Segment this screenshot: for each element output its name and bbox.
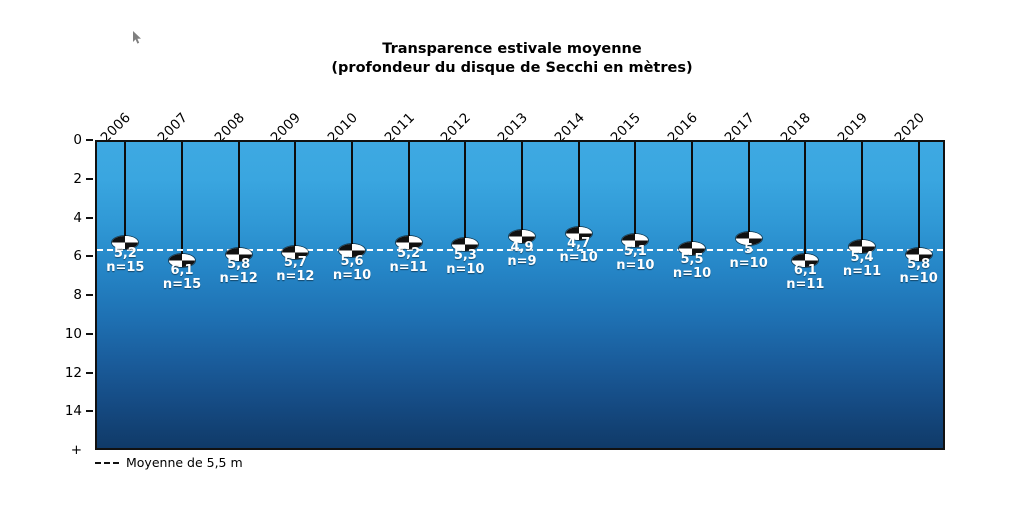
secchi-disk-marker xyxy=(396,236,422,249)
y-tick-mark xyxy=(86,178,93,180)
data-point-sample-size: n=11 xyxy=(843,265,881,279)
chart-title-block: Transparence estivale moyenne (profondeu… xyxy=(0,40,1024,78)
data-point-label: 5n=10 xyxy=(730,243,768,271)
secchi-disk-marker xyxy=(112,236,138,249)
stem-line xyxy=(351,142,353,251)
data-point-sample-size: n=10 xyxy=(333,269,371,283)
stem-line xyxy=(408,142,410,243)
y-tick-label: 8 xyxy=(22,287,82,303)
data-point-label: 5,6n=10 xyxy=(333,255,371,283)
y-tick-label: + xyxy=(22,442,82,458)
legend: Moyenne de 5,5 m xyxy=(95,455,243,470)
stem-line xyxy=(748,142,750,239)
data-point-label: 4,7n=10 xyxy=(560,237,598,265)
data-point-label: 5,8n=12 xyxy=(220,258,258,286)
stem-line xyxy=(578,142,580,233)
chart-subtitle: (profondeur du disque de Secchi en mètre… xyxy=(0,59,1024,78)
y-tick-mark xyxy=(86,372,93,374)
y-tick-label: 10 xyxy=(22,326,82,342)
secchi-disk-marker xyxy=(169,254,195,267)
data-point-label: 5,7n=12 xyxy=(276,256,314,284)
secchi-disk-marker xyxy=(906,248,932,261)
data-point-sample-size: n=12 xyxy=(220,272,258,286)
data-point-sample-size: n=15 xyxy=(106,261,144,275)
data-point-label: 5,8n=10 xyxy=(900,258,938,286)
stem-line xyxy=(521,142,523,237)
data-point-label: 4,9n=9 xyxy=(507,241,536,269)
stem-line xyxy=(634,142,636,241)
data-point-label: 5,3n=10 xyxy=(446,249,484,277)
secchi-disk-marker xyxy=(622,234,648,247)
secchi-transparency-chart: Transparence estivale moyenne (profondeu… xyxy=(0,0,1024,530)
data-point-label: 5,2n=15 xyxy=(106,247,144,275)
y-tick-mark xyxy=(86,217,93,219)
data-point-sample-size: n=11 xyxy=(786,278,824,292)
chart-title: Transparence estivale moyenne xyxy=(0,40,1024,59)
secchi-disk-marker xyxy=(509,230,535,243)
legend-label: Moyenne de 5,5 m xyxy=(126,455,243,470)
stem-line xyxy=(918,142,920,254)
data-point-sample-size: n=10 xyxy=(900,272,938,286)
y-tick-mark xyxy=(86,410,93,412)
data-point-label: 5,2n=11 xyxy=(390,247,428,275)
data-point-label: 6,1n=11 xyxy=(786,264,824,292)
y-tick-label: 12 xyxy=(22,365,82,381)
secchi-disk-marker xyxy=(226,248,252,261)
data-point-sample-size: n=12 xyxy=(276,270,314,284)
stem-line xyxy=(464,142,466,245)
stem-line xyxy=(124,142,126,243)
data-point-sample-size: n=10 xyxy=(616,259,654,273)
cursor-arrow-icon xyxy=(133,31,142,44)
secchi-disk-marker xyxy=(849,240,875,253)
y-tick-mark xyxy=(86,294,93,296)
data-point-label: 6,1n=15 xyxy=(163,264,201,292)
secchi-disk-marker xyxy=(736,232,762,245)
secchi-disk-marker xyxy=(792,254,818,267)
y-tick-mark xyxy=(86,255,93,257)
mean-reference-line xyxy=(97,249,943,251)
stem-line xyxy=(294,142,296,252)
secchi-disk-marker xyxy=(566,227,592,240)
stem-line xyxy=(861,142,863,247)
secchi-disk-marker xyxy=(282,246,308,259)
data-point-sample-size: n=15 xyxy=(163,278,201,292)
plot-area: 5,2n=156,1n=155,8n=125,7n=125,6n=105,2n=… xyxy=(95,140,945,450)
data-point-sample-size: n=10 xyxy=(560,251,598,265)
data-point-label: 5,4n=11 xyxy=(843,251,881,279)
secchi-disk-marker xyxy=(339,244,365,257)
data-point-sample-size: n=10 xyxy=(673,267,711,281)
dashed-line-icon xyxy=(95,462,119,464)
y-tick-mark xyxy=(86,139,93,141)
y-tick-label: 6 xyxy=(22,248,82,264)
stem-line xyxy=(691,142,693,249)
y-tick-label: 2 xyxy=(22,171,82,187)
secchi-disk-marker xyxy=(679,242,705,255)
y-tick-label: 0 xyxy=(22,132,82,148)
data-point-sample-size: n=9 xyxy=(507,255,536,269)
y-tick-label: 14 xyxy=(22,403,82,419)
data-point-sample-size: n=10 xyxy=(446,263,484,277)
data-point-sample-size: n=11 xyxy=(390,261,428,275)
y-tick-mark xyxy=(86,333,93,335)
stem-line xyxy=(181,142,183,260)
stem-line xyxy=(238,142,240,254)
data-point-label: 5,5n=10 xyxy=(673,253,711,281)
stem-line xyxy=(804,142,806,260)
y-tick-label: 4 xyxy=(22,210,82,226)
data-point-sample-size: n=10 xyxy=(730,257,768,271)
